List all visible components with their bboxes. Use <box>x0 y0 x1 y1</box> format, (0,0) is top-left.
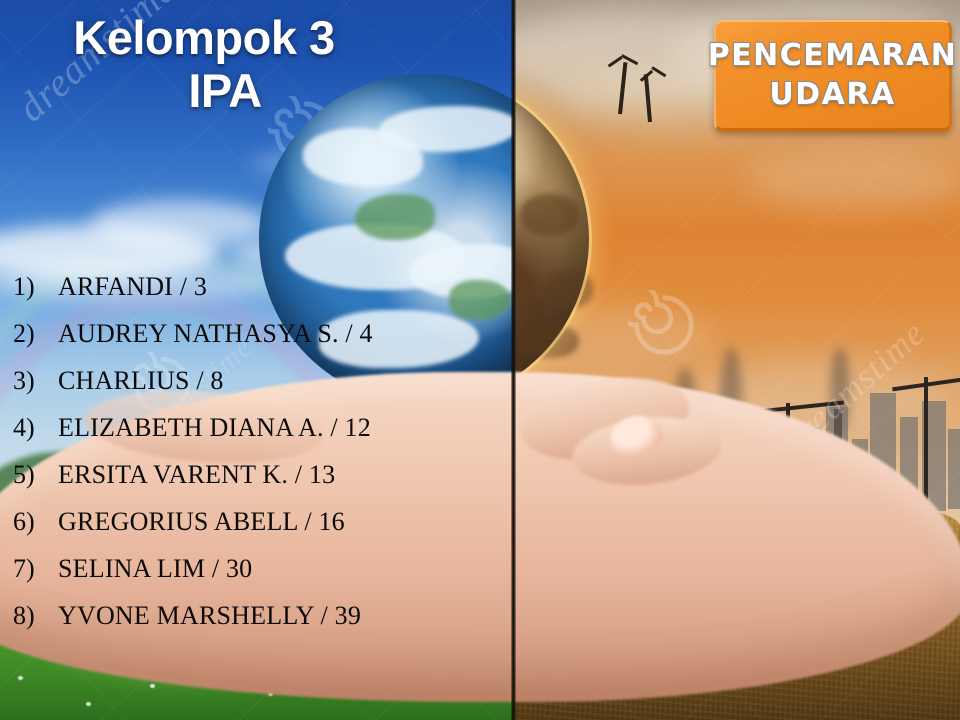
badge-line-2: UDARA <box>769 80 895 110</box>
list-item: 1) ARFANDI / 3 <box>10 272 480 319</box>
landmass <box>355 194 435 240</box>
list-item-number: 4) <box>10 413 58 443</box>
flower-speck <box>86 702 91 706</box>
crane-mast <box>924 377 928 511</box>
list-item: 5) ERSITA VARENT K. / 13 <box>10 460 480 507</box>
cloud-band <box>379 106 519 152</box>
list-item-number: 8) <box>10 601 58 631</box>
list-item: 2) AUDREY NATHASYA S. / 4 <box>10 319 480 366</box>
list-item-number: 3) <box>10 366 58 396</box>
list-item-label: GREGORIUS ABELL / 16 <box>58 507 345 537</box>
list-item-number: 1) <box>10 272 58 302</box>
presentation-slide: dreamstime dreamstime <box>0 0 960 720</box>
list-item-number: 6) <box>10 507 58 537</box>
list-item-number: 7) <box>10 554 58 584</box>
list-item: 7) SELINA LIM / 30 <box>10 554 480 601</box>
title-line-2: IPA <box>66 65 384 118</box>
list-item-number: 5) <box>10 460 58 490</box>
flower-speck <box>150 684 155 688</box>
list-item-number: 2) <box>10 319 58 349</box>
list-item: 4) ELIZABETH DIANA A. / 12 <box>10 413 480 460</box>
list-item-label: AUDREY NATHASYA S. / 4 <box>58 319 373 349</box>
list-item-label: YVONE MARSHELLY / 39 <box>58 601 361 631</box>
list-item-label: ELIZABETH DIANA A. / 12 <box>58 413 371 443</box>
list-item-label: ARFANDI / 3 <box>58 272 207 302</box>
list-item-label: ERSITA VARENT K. / 13 <box>58 460 335 490</box>
building <box>948 429 960 509</box>
image-split-divider <box>511 0 516 720</box>
title-line-1: Kelompok 3 <box>24 12 384 65</box>
topic-badge: PENCEMARAN UDARA <box>714 20 952 132</box>
slide-title: Kelompok 3 IPA <box>24 12 384 117</box>
list-item-label: SELINA LIM / 30 <box>58 554 252 584</box>
list-item: 3) CHARLIUS / 8 <box>10 366 480 413</box>
list-item-label: CHARLIUS / 8 <box>58 366 224 396</box>
group-member-list: 1) ARFANDI / 3 2) AUDREY NATHASYA S. / 4… <box>10 272 480 648</box>
list-item: 8) YVONE MARSHELLY / 39 <box>10 601 480 648</box>
flower-speck <box>18 676 23 680</box>
list-item: 6) GREGORIUS ABELL / 16 <box>10 507 480 554</box>
smog-haze <box>744 150 960 210</box>
badge-line-1: PENCEMARAN <box>708 41 958 71</box>
